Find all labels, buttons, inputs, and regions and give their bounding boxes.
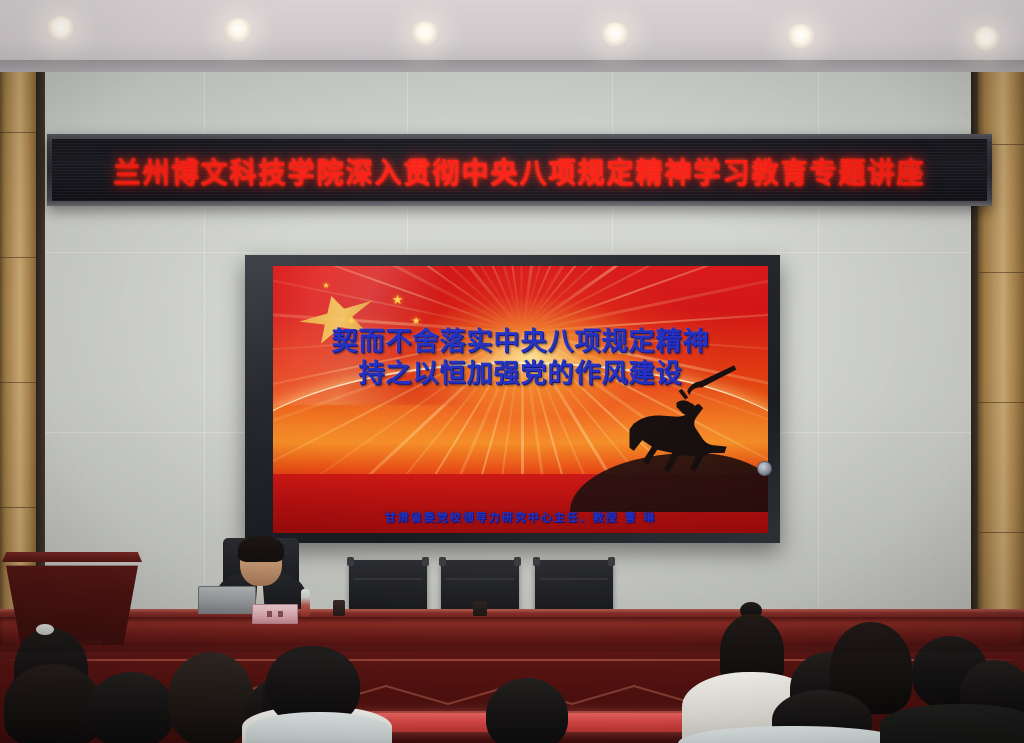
sunburst-ray: [521, 266, 722, 332]
wall-seam: [0, 252, 1024, 253]
downlight-icon: [971, 26, 1001, 52]
audience-shoulders: [246, 712, 392, 743]
presentation-slide: ★ ★ ★ ★: [273, 266, 768, 533]
lecture-hall-photo: 兰州博文科技学院深入贯彻中央八项规定精神学习教育专题讲座 ★ ★ ★ ★: [0, 0, 1024, 743]
audience-head: [88, 672, 174, 743]
slide-title: 契而不舍落实中央八项规定精神 持之以恒加强党的作风建设: [273, 327, 768, 390]
projection-screen: ★ ★ ★ ★: [245, 255, 780, 543]
led-banner-screen: 兰州博文科技学院深入贯彻中央八项规定精神学习教育专题讲座: [52, 139, 987, 201]
audience-shoulders: [880, 704, 1024, 743]
slide-title-line2: 持之以恒加强党的作风建设: [273, 359, 768, 391]
downlight-icon: [600, 22, 630, 48]
flag-star-icon: ★: [347, 317, 355, 326]
slide-title-line1: 契而不舍落实中央八项规定精神: [273, 327, 768, 359]
audience-head: [4, 664, 102, 743]
led-banner: 兰州博文科技学院深入贯彻中央八项规定精神学习教育专题讲座: [47, 134, 992, 206]
lectern-top: [2, 552, 142, 562]
screen-speaker-icon: [757, 461, 772, 476]
downlight-icon: [410, 21, 440, 47]
wall-pilaster-left: [0, 72, 36, 652]
audience-head: [486, 678, 568, 743]
downlight-icon: [223, 18, 253, 44]
hair-accessory: [36, 624, 54, 635]
glasses-icon: [244, 557, 278, 564]
downlight-icon: [786, 24, 816, 50]
led-banner-text: 兰州博文科技学院深入贯彻中央八项规定精神学习教育专题讲座: [114, 149, 926, 190]
flag-star-icon: ★: [392, 293, 404, 306]
flag-star-icon: ★: [412, 317, 421, 327]
flag-star-icon: ★: [323, 282, 330, 290]
downlight-icon: [46, 16, 76, 42]
slide-subtitle: 甘肃省委党校领导力研究中心主任、教授 曹 琳: [293, 509, 748, 525]
audience: [0, 600, 1024, 743]
wall-pilaster-left-edge: [36, 72, 45, 652]
